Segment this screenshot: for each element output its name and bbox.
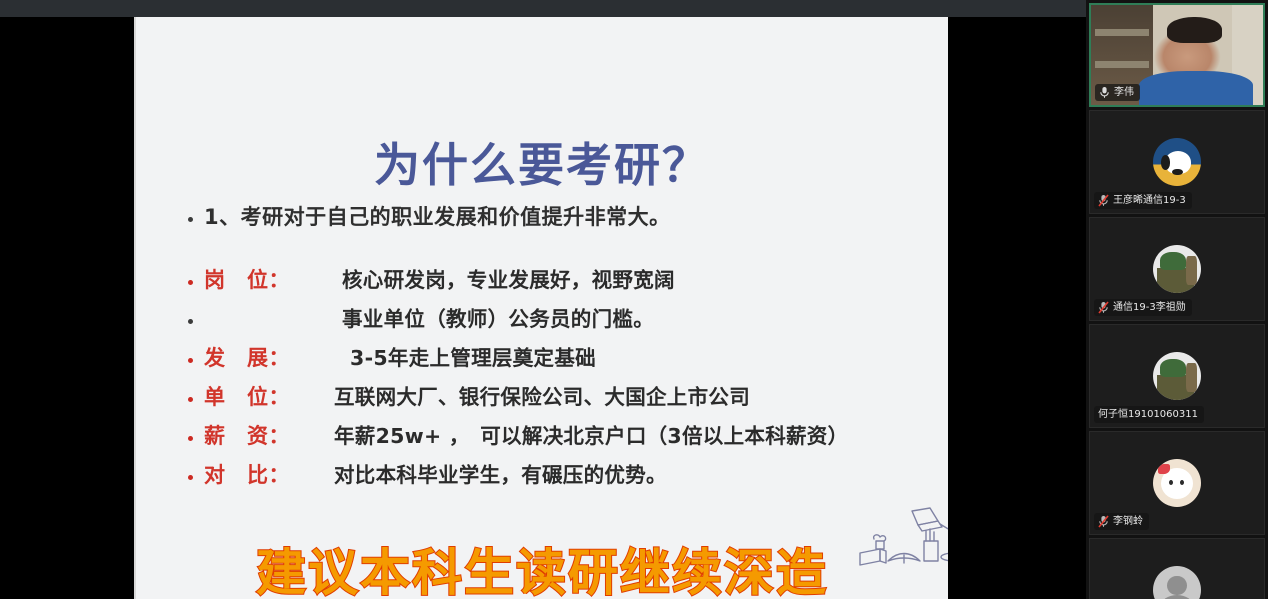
bullet-value: 互联网大厂、银行保险公司、大国企上市公司 — [316, 387, 750, 408]
bullet-dot-icon — [188, 385, 204, 402]
participant-name: 李钢蛉 — [1113, 515, 1143, 528]
participant-tile-avatar[interactable]: 王彦晞通信19-3 — [1089, 110, 1265, 214]
participant-tile-avatar[interactable]: 李钢蛉 — [1089, 431, 1265, 535]
bullet-value: 3-5年走上管理层奠定基础 — [316, 348, 596, 369]
participant-nametag: 李钢蛉 — [1094, 513, 1149, 530]
mic-on-icon — [1099, 86, 1110, 99]
avatar — [1153, 459, 1201, 507]
bullet-value: 对比本科毕业学生，有碾压的优势。 — [316, 465, 667, 486]
avatar-wrap — [1090, 539, 1264, 599]
participant-rail[interactable]: 李伟 王彦晞通信19-3 — [1086, 0, 1268, 599]
participant-nametag: 李伟 — [1095, 84, 1140, 101]
participant-tile-video[interactable]: 李伟 — [1089, 3, 1265, 107]
participant-tile-avatar[interactable]: 通信19-3李祖勋 — [1089, 217, 1265, 321]
participant-nametag: 王彦晞通信19-3 — [1094, 192, 1192, 209]
bullet-dot-icon — [188, 346, 204, 363]
bullet-item: 岗 位： 核心研发岗，专业发展好，视野宽阔 — [188, 270, 928, 291]
slide-headline: 建议本科生读研继续深造 — [136, 533, 948, 599]
bullet-item: 发 展： 3-5年走上管理层奠定基础 — [188, 348, 928, 369]
bullet-dot-icon — [188, 424, 204, 441]
bullet-label: 薪 资： — [204, 426, 316, 447]
avatar — [1153, 245, 1201, 293]
participant-name: 何子恒19101060311 — [1098, 408, 1198, 421]
avatar — [1153, 352, 1201, 400]
bullet-dot-icon — [188, 307, 204, 324]
bullet-value: 年薪25w+ ， 可以解决北京户口（3倍以上本科薪资） — [316, 426, 848, 447]
participant-name: 通信19-3李祖勋 — [1113, 301, 1186, 314]
window-titlebar — [0, 0, 1086, 17]
participant-nametag: 通信19-3李祖勋 — [1094, 299, 1192, 316]
bullet-value: 核心研发岗，专业发展好，视野宽阔 — [316, 270, 675, 291]
bullet-dot-icon — [188, 205, 204, 222]
bullet-dot-icon — [188, 268, 204, 285]
mic-muted-icon — [1098, 194, 1109, 207]
bullet-label: 单 位： — [204, 387, 316, 408]
avatar — [1153, 138, 1201, 186]
participant-nametag: 何子恒19101060311 — [1094, 406, 1204, 423]
slide-bullet-list: 1、考研对于自己的职业发展和价值提升非常大。 岗 位： 核心研发岗，专业发展好，… — [188, 207, 928, 504]
slide-title: 为什么要考研？ — [136, 129, 948, 195]
mic-muted-icon — [1098, 515, 1109, 528]
participant-name: 王彦晞通信19-3 — [1113, 194, 1186, 207]
bullet-lead: 1、考研对于自己的职业发展和价值提升非常大。 — [188, 207, 928, 228]
participant-name: 李伟 — [1114, 86, 1134, 99]
participant-tile-avatar[interactable]: 何子恒19101060311 — [1089, 324, 1265, 428]
mic-muted-icon — [1098, 301, 1109, 314]
meeting-window: 为什么要考研？ 1、考研对于自己的职业发展和价值提升非常大。 岗 位： 核心研发… — [0, 0, 1268, 599]
avatar-default-person-icon — [1153, 566, 1201, 599]
bullet-item: 薪 资： 年薪25w+ ， 可以解决北京户口（3倍以上本科薪资） — [188, 426, 928, 447]
shared-screen-stage[interactable]: 为什么要考研？ 1、考研对于自己的职业发展和价值提升非常大。 岗 位： 核心研发… — [0, 17, 1086, 599]
bullet-item: 事业单位（教师）公务员的门槛。 — [188, 309, 928, 330]
bullet-label: 发 展： — [204, 348, 316, 369]
bullet-label: 岗 位： — [204, 270, 316, 291]
bullet-dot-icon — [188, 463, 204, 480]
bullet-value: 事业单位（教师）公务员的门槛。 — [316, 309, 654, 330]
presentation-slide: 为什么要考研？ 1、考研对于自己的职业发展和价值提升非常大。 岗 位： 核心研发… — [136, 17, 948, 599]
bullet-label: 对 比： — [204, 465, 316, 486]
participant-tile-avatar[interactable] — [1089, 538, 1265, 599]
bullet-item: 对 比： 对比本科毕业学生，有碾压的优势。 — [188, 465, 928, 486]
bullet-lead-text: 1、考研对于自己的职业发展和价值提升非常大。 — [204, 207, 671, 228]
bullet-item: 单 位： 互联网大厂、银行保险公司、大国企上市公司 — [188, 387, 928, 408]
